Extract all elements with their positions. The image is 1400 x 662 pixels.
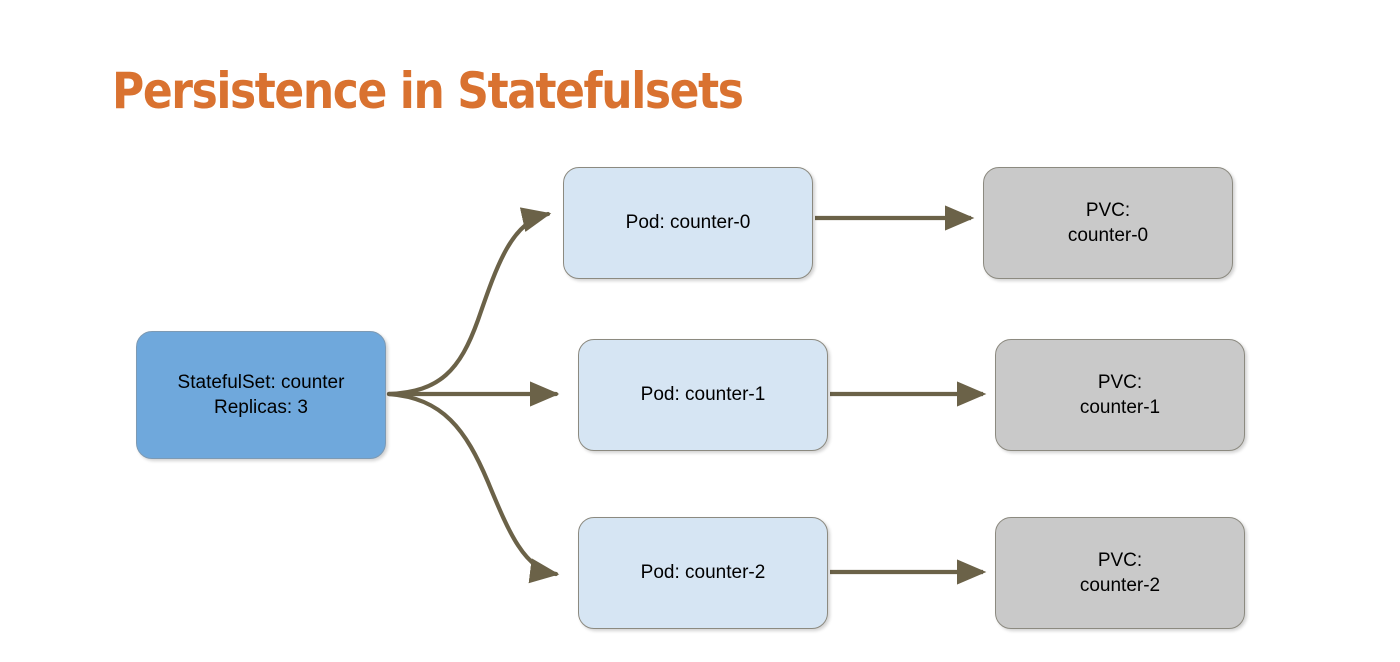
node-pod-1-label: Pod: counter-1 (633, 382, 774, 407)
node-pod-counter-2[interactable]: Pod: counter-2 (578, 517, 828, 629)
node-pvc-counter-2[interactable]: PVC: counter-2 (995, 517, 1245, 629)
node-pvc-2-label: PVC: counter-2 (1072, 548, 1168, 599)
node-pod-counter-1[interactable]: Pod: counter-1 (578, 339, 828, 451)
node-pvc-1-label: PVC: counter-1 (1072, 370, 1168, 421)
node-pvc-counter-1[interactable]: PVC: counter-1 (995, 339, 1245, 451)
page-title: Persistence in Statefulsets (112, 62, 742, 121)
node-pvc-0-label: PVC: counter-0 (1060, 198, 1156, 249)
node-statefulset-counter[interactable]: StatefulSet: counter Replicas: 3 (136, 331, 386, 459)
edge-statefulset-to-pod-2 (389, 394, 556, 574)
node-pvc-counter-0[interactable]: PVC: counter-0 (983, 167, 1233, 279)
edge-statefulset-to-pod-0 (389, 214, 548, 394)
node-pod-counter-0[interactable]: Pod: counter-0 (563, 167, 813, 279)
node-pod-2-label: Pod: counter-2 (633, 560, 774, 585)
node-pod-0-label: Pod: counter-0 (618, 210, 759, 235)
node-statefulset-label: StatefulSet: counter Replicas: 3 (170, 370, 353, 421)
slide-canvas: Persistence in Statefulsets StatefulSet:… (0, 0, 1400, 662)
